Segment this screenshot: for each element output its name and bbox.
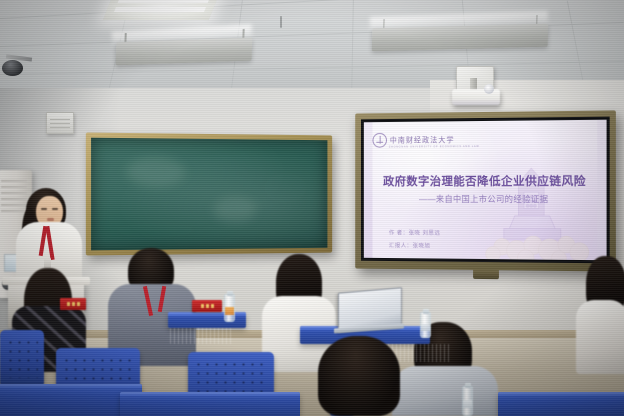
- desk: [120, 392, 300, 416]
- classroom-presentation-photo: · · · · · · · ·: [0, 0, 624, 416]
- desk: [498, 392, 624, 416]
- security-camera-icon: [2, 60, 23, 76]
- wall-control-box-icon[interactable]: [46, 112, 74, 134]
- smart-display-frame: · · · · · · · ·: [355, 110, 616, 271]
- water-bottle: [420, 312, 431, 338]
- hanging-light-bar-left: [116, 38, 253, 66]
- chalkboard-frame: [86, 133, 332, 256]
- audience-4-body: [392, 366, 498, 416]
- slide-right-band: · · · ·: [597, 120, 606, 261]
- slide-title: 政府数字治理能否降低企业供应链风险: [364, 173, 607, 189]
- slide-band-marks: · · · ·: [366, 138, 370, 148]
- presenter-badge: [44, 258, 51, 268]
- ceiling-hook-icon: [280, 16, 282, 28]
- slide-meta-block: 作 者：张晓 刘思远 汇报人：张晓旭: [389, 228, 440, 254]
- university-name-en: ZHONGNAN UNIVERSITY OF ECONOMICS AND LAW: [389, 145, 480, 149]
- nameplate-card: [60, 298, 86, 310]
- nameplate-card: [192, 300, 222, 312]
- chalkboard: [91, 138, 327, 251]
- water-bottle: [224, 294, 235, 322]
- slide-band-marks: · · · ·: [600, 136, 604, 146]
- hanging-light-bar-right: [372, 24, 549, 52]
- projector-lens-icon: [484, 84, 494, 94]
- water-bottle: [462, 386, 473, 416]
- ceiling-light-panel-icon: [103, 0, 220, 20]
- slide-left-band: · · · ·: [364, 122, 373, 258]
- chair[interactable]: [0, 330, 44, 386]
- smart-display-screen[interactable]: · · · · · · · ·: [361, 117, 610, 264]
- foreground-attendee-head: [318, 336, 400, 416]
- university-crest-icon: [372, 133, 386, 148]
- audience-5-body: [576, 300, 624, 374]
- wire-basket: [170, 328, 232, 344]
- slide-meta-presenter: 汇报人：张晓旭: [389, 241, 440, 249]
- slide-meta-authors: 作 者：张晓 刘思远: [389, 228, 440, 236]
- university-name-cn: 中南财经政法大学: [390, 135, 455, 145]
- slide-subtitle: ——来自中国上市公司的经验证据: [364, 193, 607, 205]
- presentation-slide: · · · · · · · ·: [364, 120, 607, 261]
